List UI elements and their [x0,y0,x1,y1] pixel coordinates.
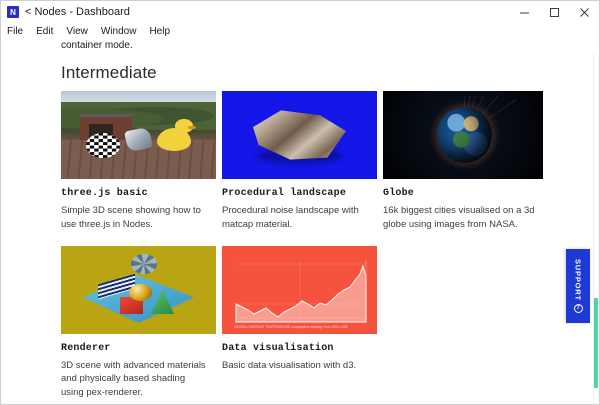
card-procedural-landscape[interactable]: Procedural landscape Procedural noise la… [222,91,377,232]
card-description: 3D scene with advanced materials and phy… [61,359,216,400]
temperature-area-chart [222,246,377,334]
card-data-visualisation[interactable]: GLOBAL SURFACE TEMPERATURE comparative a… [222,246,377,400]
title-bar: N < Nodes - Dashboard [1,1,599,23]
card-title: three.js basic [61,188,216,199]
card-title: Data visualisation [222,343,377,354]
card-description: Basic data visualisation with d3. [222,359,377,373]
thumbnail-globe[interactable] [383,91,543,179]
card-title: Renderer [61,343,216,354]
menu-item-edit[interactable]: Edit [34,26,55,37]
checkered-sphere-icon [86,133,120,158]
thumbnail-renderer[interactable] [61,246,216,334]
app-icon: N [7,6,19,18]
card-globe[interactable]: Globe 16k biggest cities visualised on a… [383,91,543,232]
card-description: Simple 3D scene showing how to use three… [61,204,216,232]
thumbnail-procedural-landscape[interactable] [222,91,377,179]
close-icon[interactable] [569,1,599,23]
menu-item-window[interactable]: Window [99,26,139,37]
vertical-scrollbar-thumb[interactable] [594,298,598,388]
menu-bar: File Edit View Window Help [1,23,599,39]
vertical-scrollbar-track[interactable] [593,53,599,404]
app-window: N < Nodes - Dashboard File Edit View Win… [0,0,600,405]
card-title: Globe [383,188,543,199]
earth-icon [437,107,491,163]
dashboard-content: Intermediate three.js basic Simple 3D sc… [1,53,599,404]
card-title: Procedural landscape [222,188,377,199]
card-renderer[interactable]: Renderer 3D scene with advanced material… [61,246,216,400]
window-controls [509,1,599,23]
section-heading-intermediate: Intermediate [61,63,599,83]
chart-caption: GLOBAL SURFACE TEMPERATURE comparative a… [234,325,367,329]
card-grid-row-1: three.js basic Simple 3D scene showing h… [61,91,541,400]
card-description: Procedural noise landscape with matcap m… [222,204,377,232]
menu-item-file[interactable]: File [5,26,25,37]
minimize-icon[interactable] [509,1,539,23]
thumbnail-deck-photo[interactable] [61,91,216,179]
rubber-duck-icon [157,128,191,151]
disco-sphere-icon [131,254,157,273]
menu-item-help[interactable]: Help [147,26,172,37]
support-label: SUPPORT [574,259,583,301]
maximize-icon[interactable] [539,1,569,23]
menu-note: container mode. [1,39,599,53]
card-description: 16k biggest cities visualised on a 3d gl… [383,204,543,232]
thumbnail-data-chart[interactable]: GLOBAL SURFACE TEMPERATURE comparative a… [222,246,377,334]
menu-item-view[interactable]: View [64,26,90,37]
window-title: < Nodes - Dashboard [25,6,130,18]
card-threejs-basic[interactable]: three.js basic Simple 3D scene showing h… [61,91,216,232]
support-tab[interactable]: SUPPORT ? [566,249,590,323]
question-mark-icon: ? [574,304,583,313]
